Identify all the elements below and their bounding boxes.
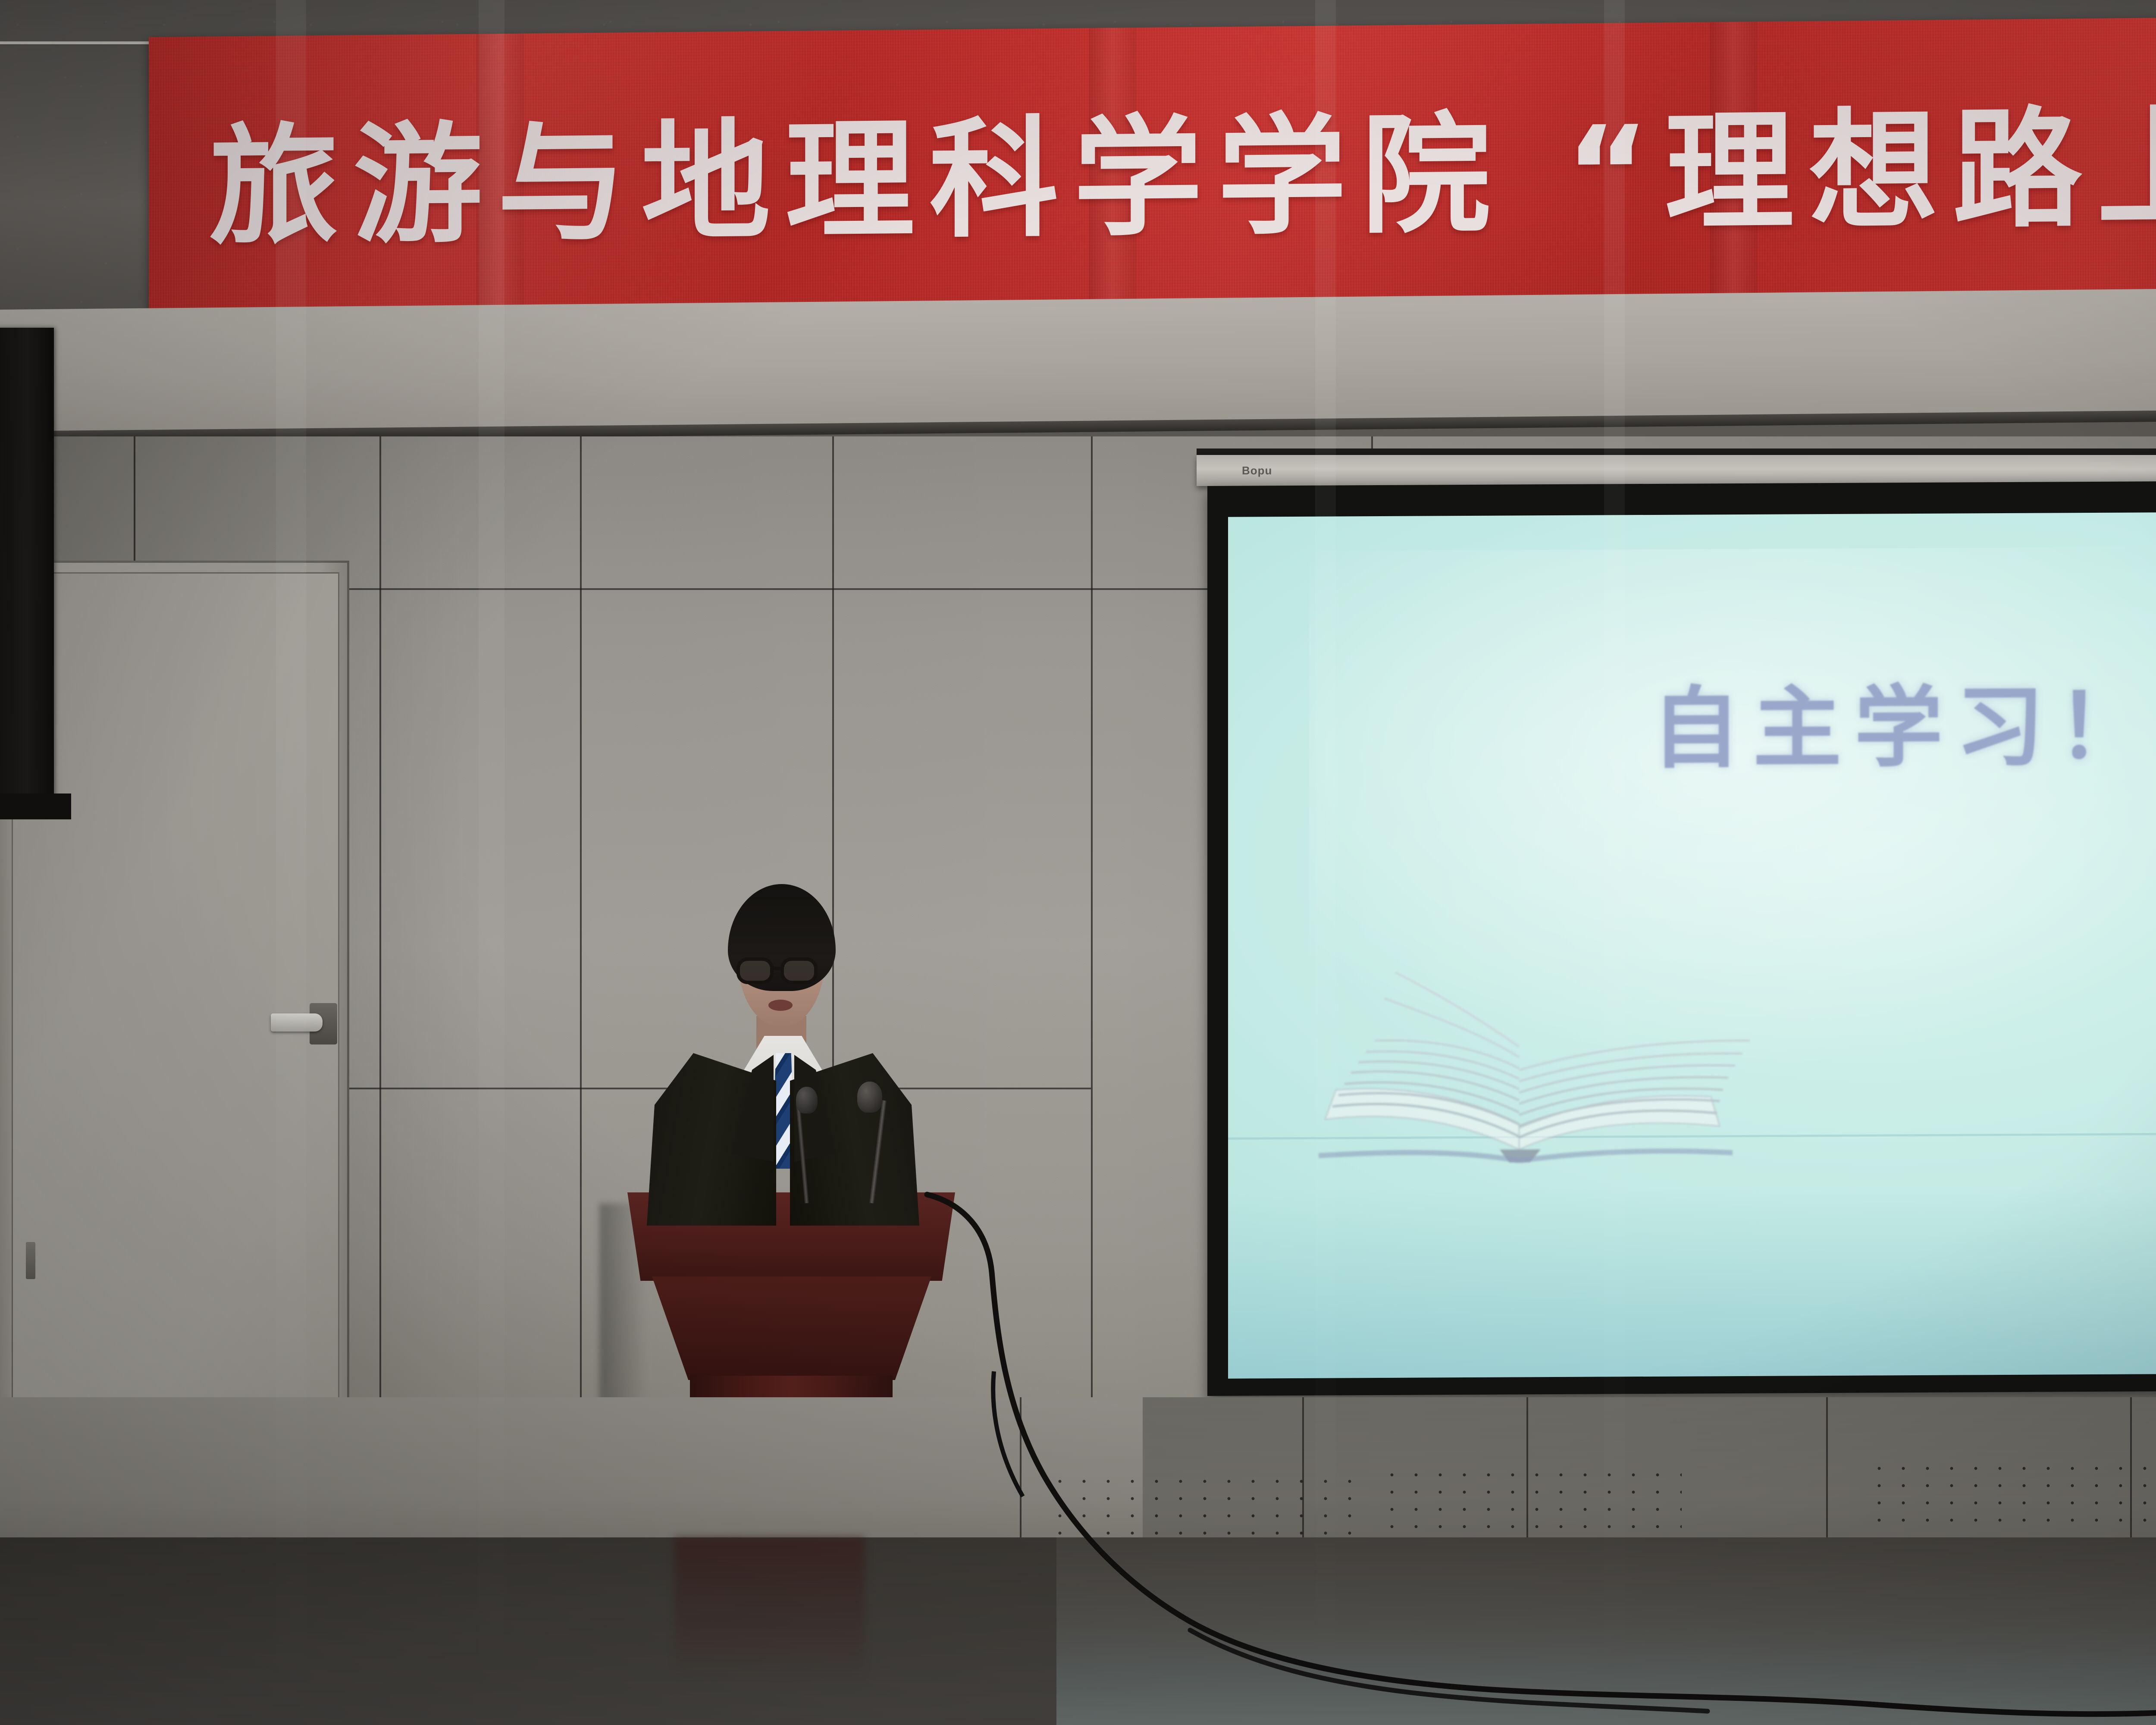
floor-reflection-4 (1604, 0, 1625, 1725)
eyeglasses-left-lens (736, 957, 774, 984)
floor-reflection-3 (1315, 0, 1336, 1725)
open-book-graphic (1284, 946, 1767, 1172)
podium-midsection (652, 1276, 931, 1380)
event-banner: 旅游与地理科学学院 “理想路上，你 (149, 14, 2156, 339)
floor-reflection-1 (276, 0, 306, 1725)
acoustic-panel-2 (1380, 1466, 1682, 1533)
eyeglasses-right-lens (780, 957, 818, 984)
screen-lower-gradient (1228, 1182, 2156, 1379)
eyeglasses-bridge (774, 967, 784, 970)
stage-floor-left-dark (0, 1537, 1056, 1725)
projection-screen-frame: 自主学习！ (1207, 479, 2156, 1396)
photograph-scene: 旅游与地理科学学院 “理想路上，你 Bopu (0, 0, 2156, 1725)
screen-roller-housing (1197, 455, 2156, 486)
acoustic-panel-3 (1867, 1460, 2156, 1527)
acoustic-panel-1 (1048, 1473, 1358, 1540)
podium-floor-reflection (675, 1537, 865, 1680)
projection-screen-surface: 自主学习！ (1228, 510, 2156, 1378)
column-loudspeaker (0, 328, 54, 806)
microphone-head-right (857, 1082, 882, 1113)
floor-reflection-2 (479, 0, 505, 1725)
speaker-person (630, 884, 949, 1212)
slide-title: 自主学习！ (1228, 652, 2156, 787)
screen-brand-logo: Bopu (1242, 464, 1272, 477)
mouth (768, 1000, 793, 1011)
loudspeaker-base (0, 793, 71, 819)
microphone-head-left (796, 1087, 818, 1113)
door-hinge-bottom (26, 1242, 35, 1279)
